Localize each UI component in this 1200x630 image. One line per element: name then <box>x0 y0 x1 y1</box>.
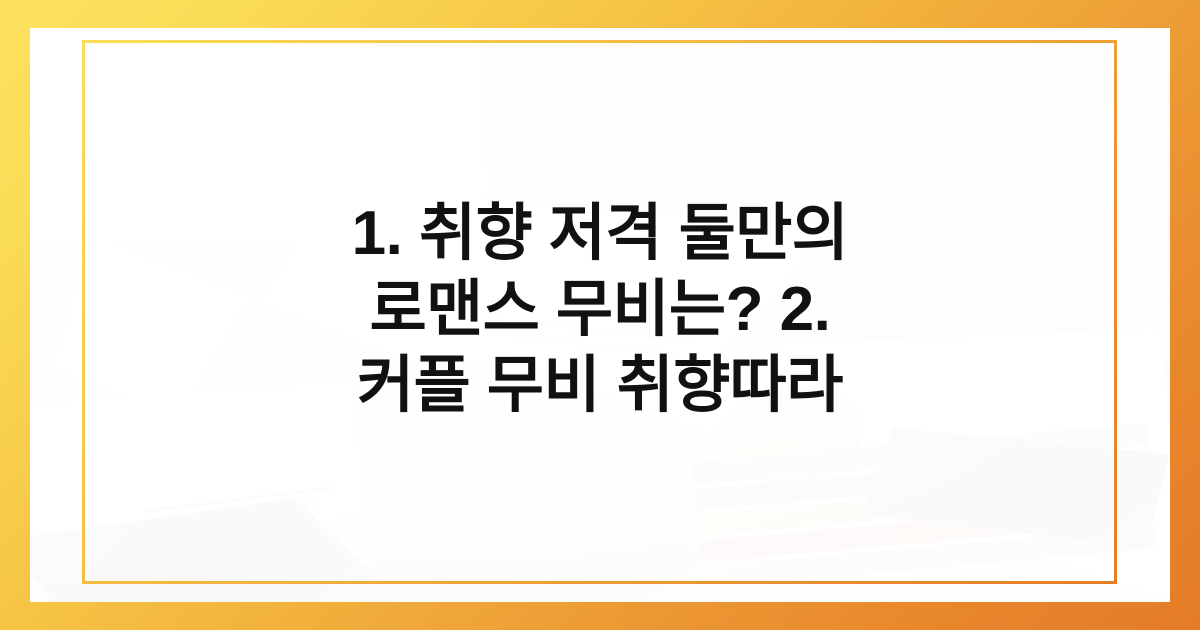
headline: 1. 취향 저격 둘만의 로맨스 무비는? 2. 커플 무비 취향따라 <box>0 196 1200 424</box>
headline-line-3: 커플 무비 취향따라 <box>120 348 1080 424</box>
headline-line-2: 로맨스 무비는? 2. <box>120 272 1080 348</box>
social-card: 1. 취향 저격 둘만의 로맨스 무비는? 2. 커플 무비 취향따라 <box>0 0 1200 630</box>
headline-line-1: 1. 취향 저격 둘만의 <box>120 196 1080 272</box>
